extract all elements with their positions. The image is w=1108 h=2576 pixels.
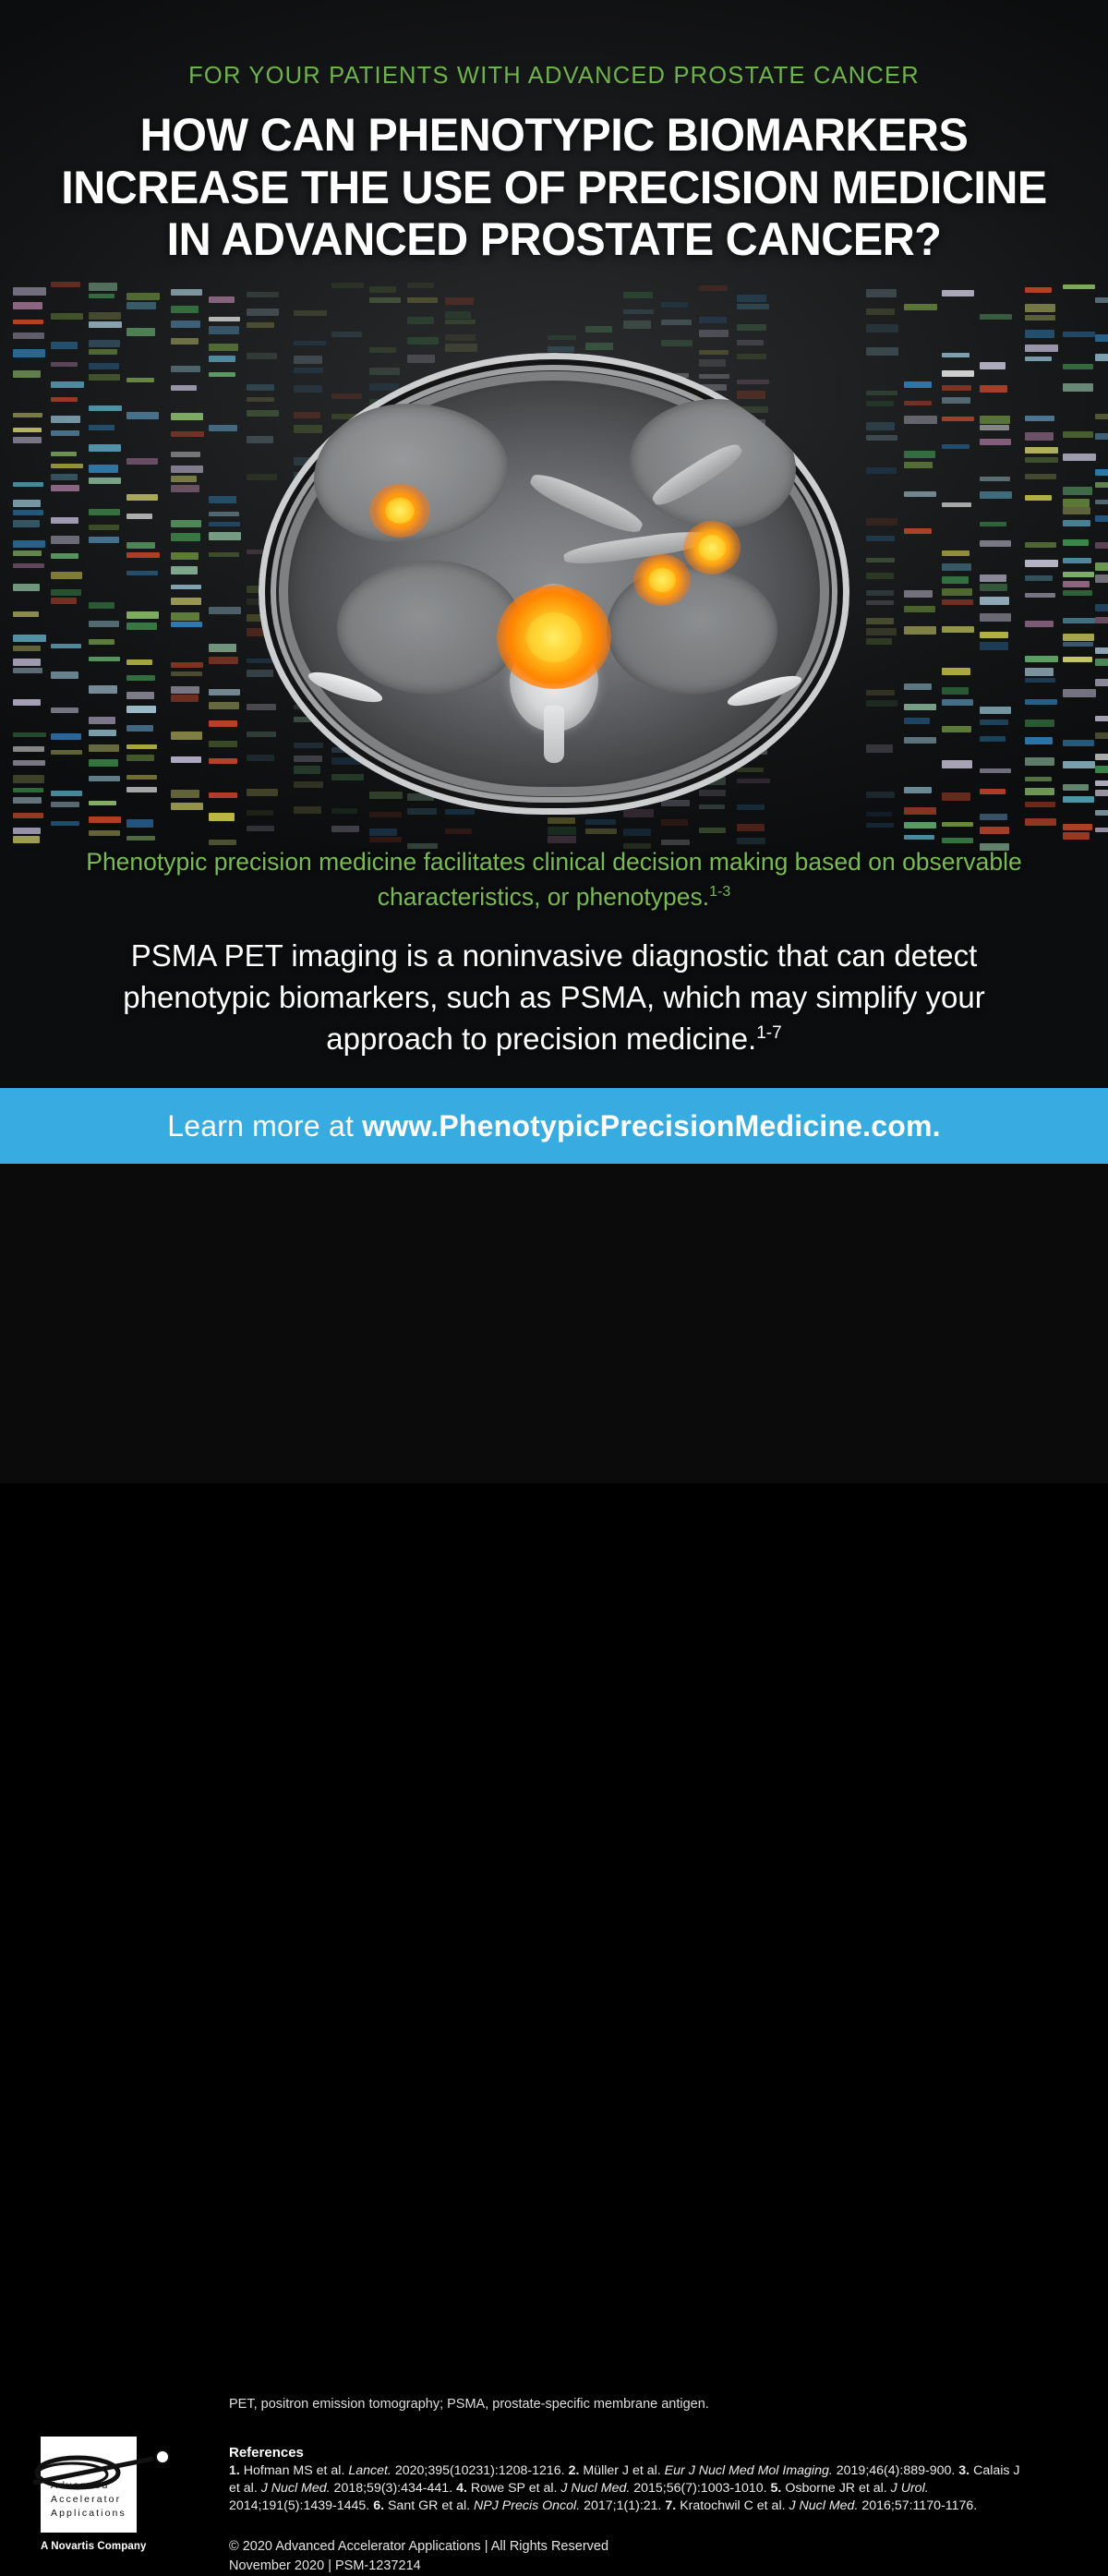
gel-band	[89, 405, 122, 411]
gel-band	[1095, 433, 1108, 440]
headline-line-3: IN ADVANCED PROSTATE CANCER?	[17, 213, 1091, 266]
logo-name-line-3: Applications	[51, 2507, 136, 2521]
gel-band	[89, 621, 119, 627]
gel-band	[13, 320, 43, 324]
gel-band	[13, 668, 42, 673]
gel-band	[51, 644, 81, 648]
gel-band	[1025, 777, 1052, 781]
gel-band	[1025, 720, 1054, 727]
gel-band	[1063, 507, 1090, 514]
banner-url-link[interactable]: www.PhenotypicPrecisionMedicine.com.	[362, 1109, 941, 1143]
gel-band	[1063, 634, 1094, 641]
pet-lesion-3	[633, 554, 691, 606]
gel-band	[89, 744, 119, 752]
gel-band	[51, 536, 79, 544]
gel-band	[980, 632, 1008, 638]
gel-band	[126, 787, 157, 792]
gel-band	[1025, 495, 1052, 501]
gel-band	[13, 510, 43, 515]
gel-band	[126, 775, 157, 780]
gel-band	[1063, 740, 1094, 746]
gel-band	[13, 775, 44, 783]
gel-band	[51, 397, 78, 402]
gel-band	[942, 385, 971, 391]
gel-band	[126, 744, 157, 749]
gel-band	[13, 646, 41, 651]
gel-band	[89, 525, 119, 530]
gel-band	[942, 822, 973, 827]
gel-band	[89, 478, 121, 484]
gel-band	[980, 574, 1006, 582]
gel-band	[13, 428, 42, 432]
gel-band	[980, 416, 1010, 424]
gel-band	[13, 732, 46, 737]
gel-band	[51, 313, 83, 320]
gel-band	[942, 417, 974, 421]
gel-band	[89, 537, 119, 543]
gel-band	[942, 576, 969, 584]
gel-band	[1025, 287, 1052, 293]
gel-band	[407, 283, 434, 288]
gel-band	[126, 571, 158, 575]
psma-pet-ct-scan-image	[208, 333, 900, 831]
gel-band	[1095, 500, 1108, 504]
gel-band	[126, 328, 155, 336]
abbreviations-text: PET, positron emission tomography; PSMA,…	[229, 2397, 1023, 2412]
gel-band	[13, 746, 44, 752]
gel-band	[126, 623, 157, 630]
gel-band	[89, 717, 115, 724]
gel-band	[980, 768, 1011, 773]
copyright-block: © 2020 Advanced Accelerator Applications…	[229, 2537, 1023, 2576]
gel-band	[89, 830, 120, 836]
gel-band	[51, 589, 81, 596]
gel-band	[51, 282, 80, 287]
gel-band	[89, 312, 121, 320]
gel-band	[980, 522, 1006, 526]
gel-band	[13, 760, 45, 766]
gel-band	[13, 611, 39, 617]
gel-band	[942, 563, 971, 571]
gel-band	[942, 370, 974, 377]
gel-band	[980, 707, 1011, 714]
ct-body-outline	[259, 353, 849, 815]
gel-band	[51, 572, 82, 579]
green-caption-text: Phenotypic precision medicine facilitate…	[86, 848, 1021, 911]
gel-band	[126, 542, 155, 549]
gel-band	[51, 362, 78, 367]
gel-band	[89, 294, 114, 298]
footer-content: PET, positron emission tomography; PSMA,…	[229, 2397, 1023, 2576]
gel-band	[1025, 345, 1058, 352]
gel-band	[1063, 487, 1092, 495]
gel-band	[13, 797, 42, 804]
gel-band	[980, 827, 1009, 834]
gel-band	[89, 349, 117, 355]
gel-band	[89, 283, 117, 291]
white-caption-text: PSMA PET imaging is a noninvasive diagno…	[123, 938, 985, 1056]
gel-band	[13, 813, 43, 818]
gel-band	[89, 657, 120, 661]
gel-band	[51, 791, 82, 796]
gel-band	[89, 602, 114, 609]
gel-band	[13, 659, 41, 666]
gel-band	[1095, 810, 1108, 816]
gel-band	[980, 814, 1007, 820]
gel-band	[942, 599, 973, 605]
gel-band	[1095, 414, 1108, 419]
gel-band	[980, 362, 1006, 369]
gel-band	[980, 642, 1008, 650]
gel-band	[942, 687, 969, 695]
references-heading: References	[229, 2445, 1023, 2461]
gel-band	[980, 720, 1008, 725]
gel-band	[1063, 332, 1095, 337]
gel-band	[13, 370, 41, 378]
gel-band	[1025, 593, 1055, 598]
gel-band	[1095, 659, 1108, 666]
gel-band	[13, 349, 45, 357]
gel-band	[89, 340, 120, 347]
headline-line-2: INCREASE THE USE OF PRECISION MEDICINE	[17, 162, 1091, 214]
gel-band	[942, 397, 970, 404]
logo-name-line-2: Accelerator	[51, 2493, 136, 2507]
gel-band	[89, 816, 121, 823]
references-list: 1. Hofman MS et al. Lancet. 2020;395(102…	[229, 2462, 1023, 2515]
gel-band	[13, 836, 40, 843]
gel-band	[51, 821, 79, 826]
logo-mark: Advanced Accelerator Applications	[41, 2437, 137, 2533]
gel-band	[51, 430, 79, 436]
gel-band	[126, 755, 154, 761]
pet-lesion-4	[683, 521, 741, 574]
gel-band	[89, 685, 117, 694]
green-caption-citation: 1-3	[709, 884, 730, 900]
gel-band	[1063, 832, 1090, 840]
logo-name-line-1: Advanced	[51, 2479, 136, 2493]
gel-band	[51, 671, 78, 679]
gel-band	[1025, 699, 1057, 705]
gel-band	[942, 726, 971, 732]
poster-hero: FOR YOUR PATIENTS WITH ADVANCED PROSTATE…	[0, 0, 1108, 1088]
gel-band	[126, 706, 156, 713]
gel-band	[1063, 642, 1093, 647]
gel-band	[1095, 469, 1108, 476]
gel-band	[1095, 647, 1108, 654]
gel-band	[1025, 474, 1056, 479]
gel-band	[942, 792, 970, 801]
gel-band	[13, 302, 42, 309]
gel-band	[13, 500, 41, 507]
gel-band	[1025, 802, 1055, 807]
gel-band	[89, 444, 121, 452]
gel-band	[126, 692, 154, 699]
gel-band	[126, 659, 152, 665]
gel-band	[1095, 780, 1108, 786]
gel-band	[1063, 689, 1096, 697]
gel-band	[13, 333, 44, 339]
gel-band	[1063, 364, 1093, 369]
gel-band	[1095, 754, 1108, 760]
gel-band	[51, 452, 77, 456]
gel-band	[126, 378, 154, 382]
gel-band	[51, 733, 81, 740]
gel-band	[126, 675, 155, 681]
pet-lesion-2	[497, 586, 611, 689]
gel-band	[89, 465, 118, 473]
gel-band	[13, 635, 46, 642]
gel-band	[1063, 539, 1089, 546]
ct-spinous-process	[544, 706, 564, 763]
gel-band	[942, 588, 972, 596]
gel-band	[126, 819, 153, 828]
gel-band	[89, 374, 120, 381]
gel-band	[1063, 824, 1092, 830]
gel-band	[1063, 572, 1094, 577]
gel-band	[13, 563, 44, 568]
ct-organ-kidney-left	[337, 561, 522, 695]
gel-band	[980, 597, 1009, 605]
gel-band	[1095, 828, 1108, 832]
gel-band	[1095, 562, 1108, 571]
eyebrow-text: FOR YOUR PATIENTS WITH ADVANCED PROSTATE…	[0, 63, 1108, 90]
gel-band	[1063, 618, 1095, 623]
gel-band	[13, 437, 42, 443]
gel-band	[1063, 520, 1090, 526]
gel-band	[13, 520, 40, 527]
gel-band	[89, 730, 116, 736]
gel-band	[13, 828, 41, 834]
gel-band	[980, 789, 1006, 794]
gel-band	[1063, 284, 1095, 289]
gel-band	[1095, 334, 1108, 342]
white-caption-citation: 1-7	[756, 1023, 781, 1043]
gel-band	[126, 552, 160, 558]
advanced-accelerator-applications-logo: Advanced Accelerator Applications A Nova…	[41, 2437, 150, 2552]
gel-band	[126, 494, 158, 501]
gel-band	[942, 626, 974, 633]
gel-band	[1025, 416, 1054, 421]
gel-band	[1095, 716, 1108, 721]
gel-band	[980, 314, 1012, 320]
gel-band	[1025, 560, 1058, 567]
gel-band	[1063, 581, 1090, 587]
gel-band	[1095, 732, 1108, 739]
gel-band	[89, 776, 120, 781]
pet-lesion-1	[369, 484, 430, 538]
gel-band	[1025, 737, 1053, 744]
gel-band	[1063, 454, 1096, 461]
gel-band	[126, 514, 152, 519]
gel-band	[1063, 590, 1092, 596]
gel-band	[13, 550, 42, 556]
gel-band	[51, 464, 83, 468]
gel-band	[1025, 357, 1052, 361]
gel-band	[13, 584, 40, 591]
gel-band	[331, 283, 364, 288]
gel-band	[51, 598, 77, 604]
gel-band	[980, 736, 1006, 742]
gel-band	[51, 517, 78, 524]
copyright-line-2: November 2020 | PSM-1237214	[229, 2557, 1023, 2576]
gel-band	[1025, 668, 1054, 676]
banner-lead-text: Learn more at	[167, 1109, 362, 1143]
gel-band	[1025, 315, 1055, 320]
gel-band	[369, 286, 396, 293]
gel-band	[51, 485, 79, 491]
gel-band	[89, 639, 114, 645]
gel-band	[980, 439, 1011, 445]
gel-band	[1095, 542, 1108, 549]
gel-band	[51, 553, 78, 559]
gel-band	[980, 385, 1007, 393]
gel-band	[126, 725, 153, 732]
gel-band	[89, 509, 120, 515]
gel-band	[980, 584, 1007, 591]
gel-band	[89, 425, 114, 430]
gel-band	[1095, 354, 1108, 361]
gel-band	[1063, 784, 1089, 791]
gel-band	[13, 482, 43, 487]
gel-band	[699, 285, 728, 291]
gel-band	[942, 290, 974, 296]
gel-band	[51, 381, 84, 388]
gel-band	[1025, 304, 1055, 312]
gel-band	[1063, 383, 1093, 392]
learn-more-banner[interactable]: Learn more at www.PhenotypicPrecisionMed…	[0, 1088, 1108, 1164]
gel-band	[51, 707, 78, 713]
white-caption: PSMA PET imaging is a noninvasive diagno…	[0, 935, 1108, 1060]
gel-band	[1095, 679, 1108, 686]
gel-band	[942, 502, 971, 507]
gel-band	[126, 836, 155, 841]
gel-band	[1095, 766, 1108, 773]
gel-band	[980, 613, 1011, 622]
copyright-line-1: © 2020 Advanced Accelerator Applications…	[229, 2537, 1023, 2557]
gel-band	[1063, 796, 1094, 803]
gel-band	[89, 801, 116, 805]
gel-band	[126, 293, 160, 300]
gel-band	[1095, 617, 1108, 623]
gel-band	[1025, 621, 1054, 627]
logo-wordmark: Advanced Accelerator Applications	[51, 2479, 136, 2521]
gel-band	[13, 699, 41, 706]
gel-band	[1095, 604, 1108, 611]
gel-band	[13, 413, 42, 417]
gel-band	[1025, 447, 1058, 454]
gel-band	[1025, 757, 1054, 766]
gel-band	[126, 302, 156, 309]
gel-band	[51, 802, 79, 807]
gel-band	[1095, 297, 1108, 303]
gel-band	[1025, 432, 1054, 441]
green-caption: Phenotypic precision medicine facilitate…	[0, 845, 1108, 914]
gel-band	[1095, 515, 1108, 522]
gel-band	[1095, 790, 1108, 796]
gel-band	[1095, 574, 1108, 583]
gel-band	[13, 788, 43, 792]
headline-line-1: HOW CAN PHENOTYPIC BIOMARKERS	[17, 109, 1091, 162]
logo-tagline: A Novartis Company	[41, 2541, 150, 2552]
gel-band	[13, 287, 46, 296]
gel-band	[942, 699, 973, 706]
gel-band	[1095, 482, 1108, 488]
gel-band	[89, 363, 119, 369]
gel-band	[126, 412, 159, 419]
gel-band	[980, 491, 1012, 499]
gel-band	[126, 458, 158, 465]
gel-band	[942, 444, 969, 449]
gel-band	[1025, 656, 1058, 662]
gel-band	[980, 477, 1010, 481]
ct-organ-kidney-right	[607, 565, 777, 695]
gel-band	[1063, 657, 1092, 662]
gel-band	[1063, 558, 1091, 563]
gel-band	[942, 668, 970, 675]
gel-band	[942, 760, 972, 768]
gel-band	[1025, 575, 1053, 581]
gel-band	[1025, 330, 1054, 338]
gel-band	[1025, 457, 1058, 463]
gel-band	[1025, 818, 1056, 826]
gel-band	[1063, 499, 1090, 507]
gel-band	[942, 550, 969, 556]
gel-band	[1025, 678, 1055, 683]
gel-band	[51, 474, 78, 480]
gel-band	[51, 342, 78, 349]
gel-band	[13, 540, 45, 548]
gel-band	[942, 838, 973, 843]
gel-band	[89, 759, 118, 767]
page-title: HOW CAN PHENOTYPIC BIOMARKERS INCREASE T…	[17, 109, 1091, 266]
gel-band	[51, 416, 80, 423]
gel-band	[126, 611, 159, 619]
gel-band	[51, 750, 82, 755]
gel-band	[980, 540, 1011, 547]
gel-band	[1025, 788, 1054, 795]
gel-band	[1025, 542, 1056, 548]
banner-text: Learn more at www.PhenotypicPrecisionMed…	[167, 1109, 941, 1143]
gel-band	[1063, 761, 1095, 768]
gel-band	[1063, 431, 1093, 438]
footer: Advanced Accelerator Applications A Nova…	[0, 1164, 1108, 1483]
gel-band	[980, 425, 1009, 430]
gel-band	[89, 321, 122, 328]
gel-band	[942, 353, 969, 357]
